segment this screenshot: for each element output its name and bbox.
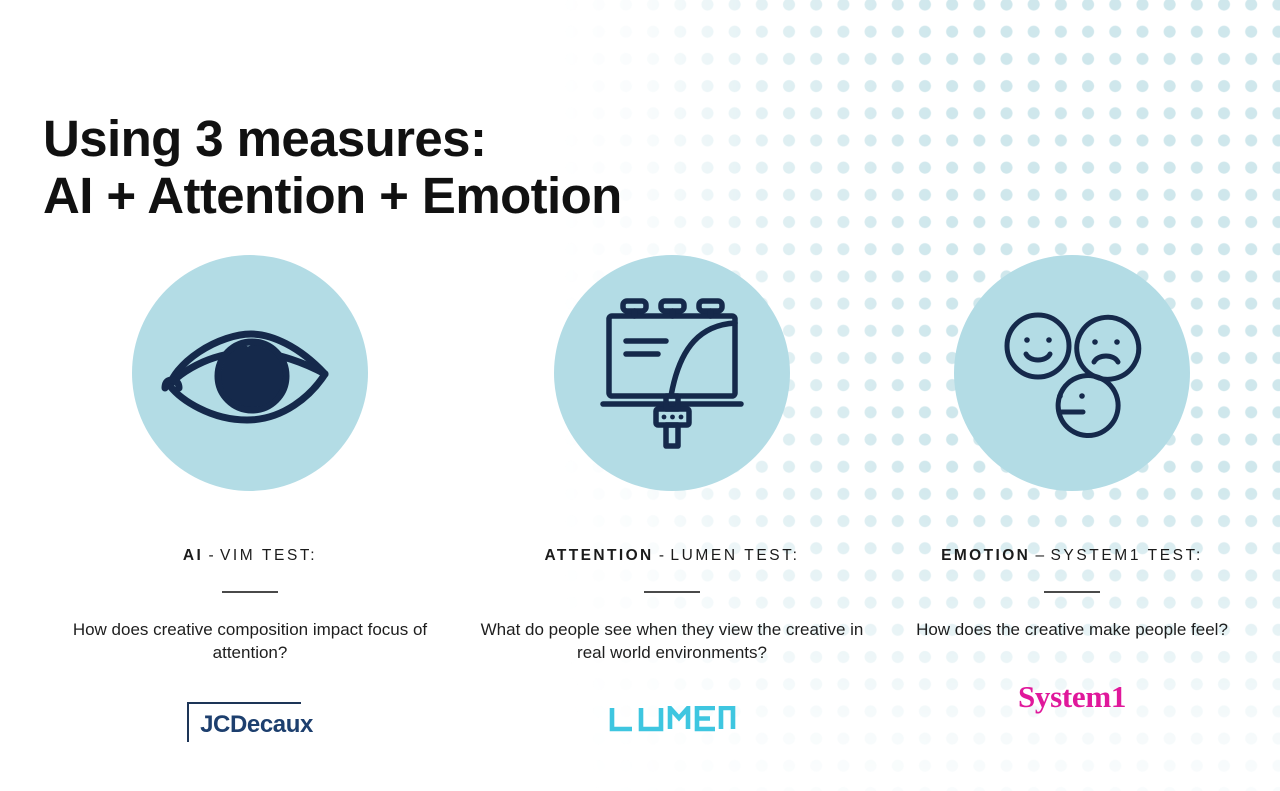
jcdecaux-logo-text: JCDecaux	[200, 711, 313, 738]
page-title: Using 3 measures: AI + Attention + Emoti…	[43, 110, 873, 224]
column-heading-attention: ATTENTION - LUMEN TEST:	[462, 547, 882, 565]
jcdecaux-logo: JCDecaux	[187, 702, 313, 739]
column-heading-rest: LUMEN TEST:	[670, 547, 799, 564]
heading-divider	[222, 591, 278, 593]
emotion-faces-icon	[994, 302, 1150, 444]
billboard-icon	[598, 297, 746, 449]
heading-divider	[644, 591, 700, 593]
icon-circle-attention	[554, 255, 790, 491]
column-body-attention: What do people see when they view the cr…	[462, 618, 882, 664]
column-heading-separator: -	[654, 547, 671, 564]
column-body-emotion: How does the creative make people feel?	[862, 618, 1280, 641]
happy-face-icon	[1007, 315, 1069, 377]
column-heading-rest: SYSTEM1 TEST:	[1050, 547, 1202, 564]
column-heading-keyword: ATTENTION	[544, 547, 653, 564]
eye-pupil	[221, 345, 283, 407]
eye-icon	[159, 314, 341, 432]
column-heading-emotion: EMOTION – SYSTEM1 TEST:	[862, 547, 1280, 565]
lumen-logo: LUMEN	[608, 706, 736, 734]
sad-face-icon	[1077, 317, 1139, 379]
measure-column-ai: AI - VIM TEST: How does creative composi…	[40, 255, 460, 742]
measure-column-attention: ATTENTION - LUMEN TEST: What do people s…	[462, 255, 882, 742]
neutral-face-icon	[1057, 376, 1118, 436]
logo-slot-ai: JCDecaux	[40, 698, 460, 742]
column-heading-keyword: EMOTION	[941, 547, 1030, 564]
column-heading-ai: AI - VIM TEST:	[40, 547, 460, 565]
icon-circle-ai	[132, 255, 368, 491]
column-heading-keyword: AI	[183, 547, 203, 564]
billboard-base-dots	[662, 415, 684, 420]
logo-slot-emotion: System1	[862, 675, 1280, 719]
column-heading-separator: –	[1030, 547, 1050, 564]
logo-slot-attention: LUMEN	[462, 698, 882, 742]
heading-divider	[1044, 591, 1100, 593]
column-heading-rest: VIM TEST:	[220, 547, 317, 564]
column-heading-separator: -	[203, 547, 220, 564]
icon-circle-emotion	[954, 255, 1190, 491]
column-body-ai: How does creative composition impact foc…	[40, 618, 460, 664]
slide-canvas: Using 3 measures: AI + Attention + Emoti…	[0, 0, 1280, 791]
measure-column-emotion: EMOTION – SYSTEM1 TEST: How does the cre…	[862, 255, 1280, 719]
system1-logo: System1	[1018, 679, 1126, 715]
